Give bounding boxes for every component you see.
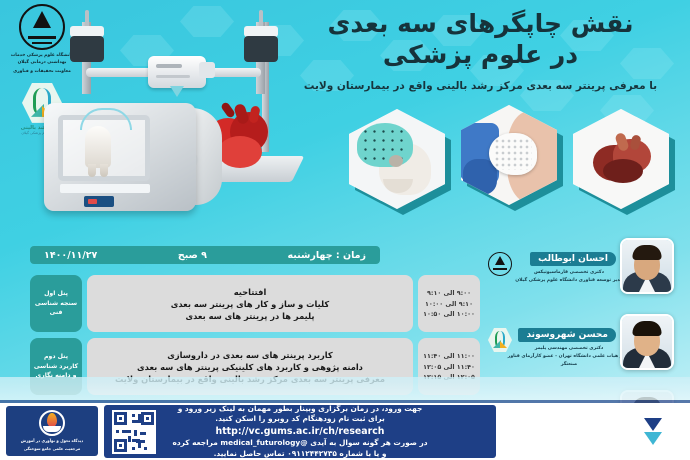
speaker-card-2: محسن شهروسوند دکتری تخصصی مهندسی پلیمر ع… (482, 312, 688, 374)
speaker-2-credential-2: عضو هیات علمی دانشگاه تهران - عضو کارآزم… (506, 353, 632, 369)
panel-1-title: پنل اول (44, 289, 68, 299)
footer-line-4: و یا با شماره ۰۹۱۱۲۴۴۲۷۳۵ تماس حاصل نمای… (214, 449, 387, 460)
speaker-1-credentials: دکتری تخصصی فارماسیوتیکس مدیر توسعه فناو… (506, 269, 632, 285)
footer-line-3-post: مراجعه کرده (172, 438, 217, 447)
panel-2-subtitle: کاربرد شناسی (34, 362, 78, 372)
footer-line-2: برای ثبت نام زودهنگام کد روبرو را اسکن ک… (215, 414, 384, 425)
3d-printer-illustration (30, 8, 310, 223)
panel-1-time-3: ۱۰:۰۰ الی ۱۰:۵۰ (423, 310, 475, 318)
panel-1-tag: پنل اول سنجه شناسی فنی (30, 275, 82, 332)
poster-title-block: نقش چاپگرهای سه بعدی در علوم پزشکی با مع… (283, 8, 678, 92)
panel-2-title: پنل دوم (44, 352, 68, 362)
panel-1-times: ۹:۰۰ الی ۹:۱۰ ۹:۱۰ الی ۱۰:۰۰ ۱۰:۰۰ الی ۱… (418, 275, 480, 332)
event-time: ۹ صبح (178, 250, 207, 261)
footer-bar: دیدگاه تحول و نوآوری در آموزش مرجعیت علم… (0, 403, 690, 460)
footer-line-3-pre: در صورت هر گونه سوال به آیدی (310, 438, 427, 447)
registration-info-box: جهت ورود، در زمان برگزاری وبینار بطور مه… (104, 405, 496, 458)
panel-1-topic-1: افتتاحیه (234, 287, 267, 297)
qr-code[interactable] (112, 410, 156, 454)
poster-banner: دانشگاه علوم پزشکی خدمات بهداشتی درمانی … (0, 0, 690, 215)
panel-1-time-1: ۹:۰۰ الی ۹:۱۰ (427, 289, 471, 297)
footer-line-3: در صورت هر گونه سوال به آیدی @medical_fu… (172, 438, 427, 449)
panel-1-topic-3: پلیمر ها در پرینتر های سه بعدی (185, 311, 314, 321)
webinar-url[interactable]: http://vc.gums.ac.ir/ch/research (216, 426, 385, 437)
footer-logo-caption-1: دیدگاه تحول و نوآوری در آموزش (21, 438, 83, 444)
panel-1-subtitle: سنجه شناسی فنی (32, 299, 80, 318)
footer-line-4-pre: و یا با شماره (339, 449, 386, 458)
page-title-line-1: نقش چاپگرهای سه بعدی (283, 8, 678, 39)
hexagon-photo-strip (345, 105, 690, 215)
speaker-2-name: محسن شهروسوند (518, 328, 616, 342)
speaker-2-avatar (620, 314, 674, 370)
conference-poster: دانشگاه علوم پزشکی خدمات بهداشتی درمانی … (0, 0, 690, 460)
telegram-handle[interactable]: @medical_futurology (220, 438, 307, 447)
education-innovation-logo-icon (39, 410, 65, 436)
panel-1-topics: افتتاحیه کلیات و ساز و کار های پرینتر سه… (87, 275, 413, 332)
speaker-1-avatar (620, 238, 674, 294)
schedule-panel-1: پنل اول سنجه شناسی فنی افتتاحیه کلیات و … (30, 275, 480, 332)
event-datetime-bar: زمان : چهارشنبه ۹ صبح ۱۴۰۰/۱۱/۲۷ (30, 246, 380, 264)
contact-phone: ۰۹۱۱۲۴۴۲۷۳۵ (287, 449, 337, 458)
panel-1-topic-2: کلیات و ساز و کار های پرینتر سه بعدی (171, 299, 329, 309)
panel-2-topic-1: کاربرد پرینتر های سه بعدی در داروسازی (167, 350, 333, 360)
speaker-1-credential-2: مدیر توسعه فناوری دانشگاه علوم پزشکی گیل… (506, 277, 632, 285)
footer-line-1: جهت ورود، در زمان برگزاری وبینار بطور مه… (178, 404, 423, 415)
panel-2-time-1: ۱۱:۰۰ الی ۱۱:۴۰ (423, 352, 475, 360)
footer-line-4-post: تماس حاصل نمایید. (214, 449, 285, 458)
panel-1-time-2: ۹:۱۰ الی ۱۰:۰۰ (425, 300, 473, 308)
page-title-line-2: در علوم پزشکی (283, 39, 678, 70)
footer-logo-caption-2: مرجعیت علمی جامع سوختگی (24, 446, 81, 452)
speaker-2-credentials: دکتری تخصصی مهندسی پلیمر عضو هیات علمی د… (506, 345, 632, 368)
speaker-1-name: احسان ابوطالب (530, 252, 616, 266)
printed-tooth-model (85, 126, 111, 168)
speaker-1-credential-1: دکتری تخصصی فارماسیوتیکس (506, 269, 632, 277)
event-day: زمان : چهارشنبه (288, 250, 366, 261)
speaker-card-1: احسان ابوطالب دکتری تخصصی فارماسیوتیکس م… (482, 236, 688, 298)
wave-divider (0, 377, 690, 403)
footer-arrow-decor (596, 412, 682, 452)
speaker-2-credential-1: دکتری تخصصی مهندسی پلیمر (506, 345, 632, 353)
page-subtitle: با معرفی پرینتر سه بعدی مرکز رشد بالینی … (283, 80, 678, 92)
panel-2-time-2: ۱۱:۴۰ الی ۱۲:۰۵ (423, 363, 475, 371)
footer-left-logo: دیدگاه تحول و نوآوری در آموزش مرجعیت علم… (6, 406, 98, 456)
event-date: ۱۴۰۰/۱۱/۲۷ (44, 250, 97, 261)
panel-2-topic-2: دامنه پژوهی و کاربرد های کلینیکی پرینتر … (137, 362, 363, 372)
